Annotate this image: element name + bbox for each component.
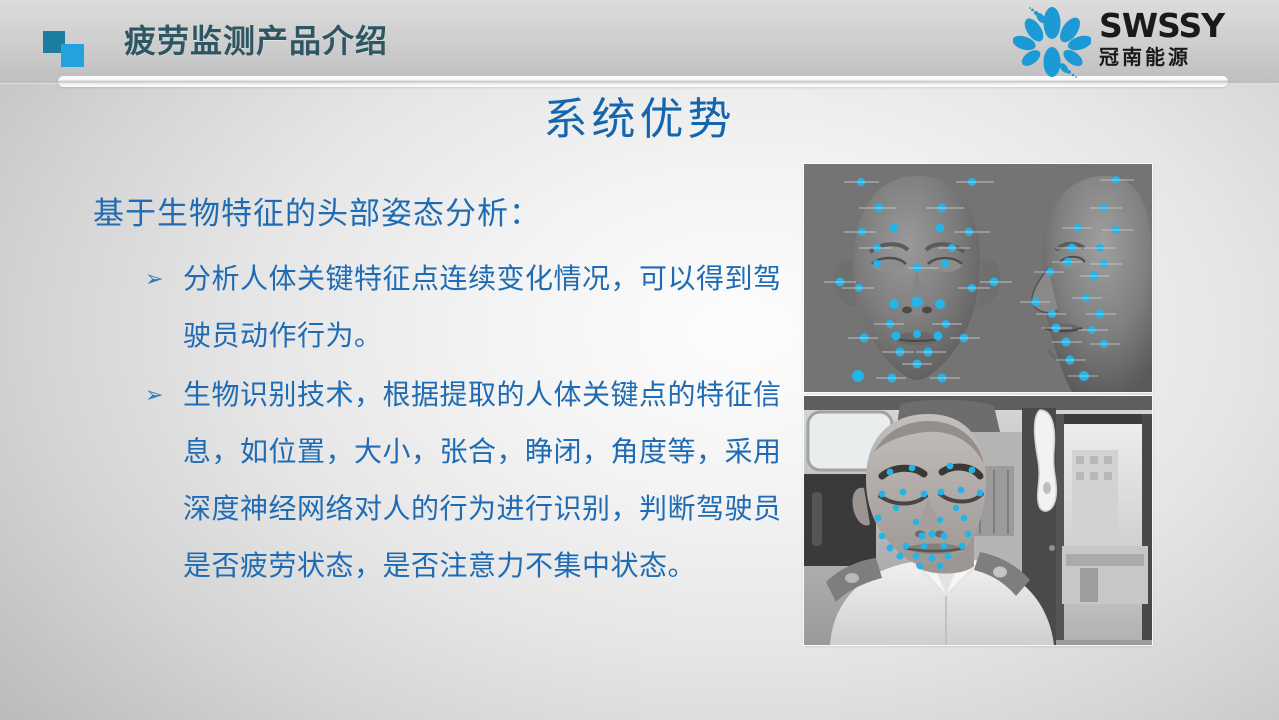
flower-petal-logo-icon: [1013, 6, 1091, 78]
list-item: ➢ 分析人体关键特征点连续变化情况，可以得到驾驶员动作行为。: [93, 250, 783, 364]
list-item: ➢ 生物识别技术，根据提取的人体关键点的特征信息，如位置，大小，张合，睁闭，角度…: [93, 366, 783, 594]
logo-brand-text: SWSSY: [1099, 9, 1263, 43]
arrow-bullet-icon: ➢: [93, 366, 183, 423]
lead-statement: 基于生物特征的头部姿态分析：: [93, 192, 783, 236]
list-item-text: 生物识别技术，根据提取的人体关键点的特征信息，如位置，大小，张合，睁闭，角度等，…: [183, 366, 783, 594]
presentation-slide: 疲劳监测产品介绍: [0, 0, 1279, 720]
logo-wordmark: SWSSY 冠南能源: [1099, 9, 1263, 71]
arrow-bullet-icon: ➢: [93, 250, 183, 307]
list-item-text: 分析人体关键特征点连续变化情况，可以得到驾驶员动作行为。: [183, 250, 783, 364]
figure-face-landmark-model: [804, 164, 1152, 392]
header-decoration-square-light: [61, 44, 84, 67]
company-logo: SWSSY 冠南能源: [1013, 4, 1265, 78]
header-title: 疲劳监测产品介绍: [124, 21, 388, 61]
slide-body: 基于生物特征的头部姿态分析： ➢ 分析人体关键特征点连续变化情况，可以得到驾驶员…: [93, 192, 783, 596]
logo-subtitle-text: 冠南能源: [1099, 45, 1263, 71]
figure-driver-cab-detection: [804, 396, 1152, 645]
slide-title: 系统优势: [0, 92, 1279, 148]
